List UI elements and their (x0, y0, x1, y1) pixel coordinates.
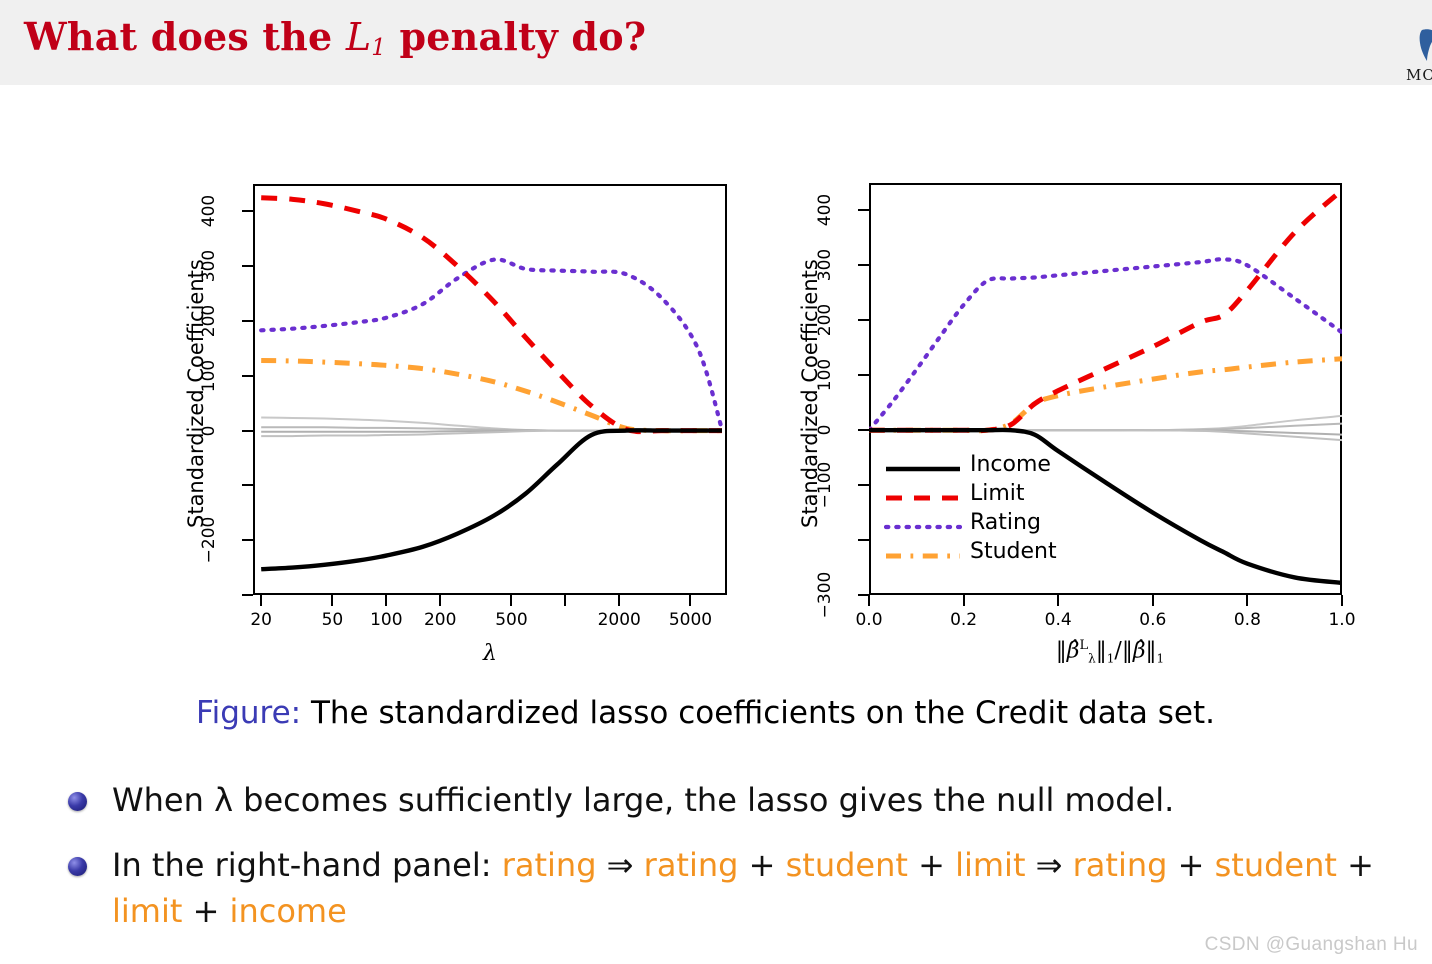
chart-panel-left: Standardized Coefficients −2000100200300… (0, 86, 760, 706)
series-line-rating (261, 259, 722, 429)
institution-logo-wordmark: MON (1406, 66, 1432, 84)
y-tick (858, 539, 869, 541)
x-tick (564, 595, 566, 606)
legend-label: Rating (970, 510, 1041, 535)
x-tick (1246, 595, 1248, 606)
legend-item-limit: Limit (884, 483, 1104, 511)
x-tick-label: 1.0 (1302, 610, 1382, 630)
page-title-calligraphic-L: L (346, 15, 371, 59)
bullet-text-segment: + (908, 846, 955, 884)
bullet-text: When λ becomes sufficiently large, the l… (112, 778, 1424, 823)
x-tick (618, 595, 620, 606)
y-tick (242, 210, 253, 212)
figure-caption: Figure: The standardized lasso coefficie… (196, 695, 1356, 731)
y-tick-label: 200 (198, 291, 220, 351)
institution-logo: MON (1372, 22, 1432, 84)
monash-shield-icon (1418, 28, 1432, 62)
figure-caption-lead: Figure: (196, 695, 301, 731)
highlighted-term: student (786, 846, 908, 884)
x-tick (1057, 595, 1059, 606)
page-title-subscript: 1 (371, 35, 386, 61)
x-tick-label: 200 (400, 610, 480, 630)
series-line-limit (869, 190, 1342, 430)
y-tick (242, 375, 253, 377)
bullet-text-segment: ⇒ (597, 846, 644, 884)
y-tick-label: 400 (198, 181, 220, 241)
bullet-text-segment: When λ becomes sufficiently large, the l… (112, 781, 1174, 819)
x-tick-label: 0.8 (1207, 610, 1287, 630)
legend-label: Limit (970, 481, 1025, 506)
y-tick (858, 374, 869, 376)
y-tick-label: 300 (814, 235, 836, 295)
highlighted-term: rating (1073, 846, 1168, 884)
y-tick (242, 430, 253, 432)
y-tick-label: 100 (198, 346, 220, 406)
legend-swatch-dashdot (884, 543, 962, 567)
y-tick (858, 484, 869, 486)
bullet-list: When λ becomes sufficiently large, the l… (64, 778, 1424, 954)
highlighted-term: limit (955, 846, 1025, 884)
figure-caption-text: The standardized lasso coefficients on t… (301, 695, 1215, 731)
x-tick-label: 0.0 (829, 610, 909, 630)
bullet-dot-icon (68, 857, 87, 876)
page-title-prefix: What does the (24, 14, 346, 59)
legend-item-student: Student (884, 541, 1104, 569)
x-tick (1341, 595, 1343, 606)
y-tick (858, 264, 869, 266)
x-tick (868, 595, 870, 606)
series-line-income (261, 430, 722, 569)
highlighted-term: rating (644, 846, 739, 884)
y-tick-label: 300 (198, 236, 220, 296)
y-tick (242, 320, 253, 322)
bullet-text-segment: In the right-hand panel: (112, 846, 502, 884)
y-tick (858, 209, 869, 211)
x-axis-label-left: λ (410, 641, 570, 666)
x-tick (331, 595, 333, 606)
x-tick-label: 20 (221, 610, 301, 630)
highlighted-term: income (230, 892, 347, 930)
watermark: CSDN @Guangshan Hu (1205, 934, 1418, 956)
legend-label: Income (970, 452, 1051, 477)
series-line-limit (261, 198, 722, 432)
x-tick-label: 0.6 (1113, 610, 1193, 630)
bullet-text-segment: ⇒ (1025, 846, 1072, 884)
series-line-student (261, 360, 722, 430)
figure-area: Standardized Coefficients −2000100200300… (0, 86, 1432, 706)
y-tick-label: 400 (814, 180, 836, 240)
x-tick (1152, 595, 1154, 606)
x-tick-label: 500 (471, 610, 551, 630)
y-tick (858, 429, 869, 431)
y-tick-label: −100 (814, 455, 836, 515)
x-tick-label: 0.4 (1018, 610, 1098, 630)
x-tick (963, 595, 965, 606)
y-tick-label: 0 (198, 401, 220, 461)
bullet-text: In the right-hand panel: rating ⇒ rating… (112, 843, 1424, 934)
highlighted-term: limit (112, 892, 182, 930)
y-tick (242, 594, 253, 596)
x-tick-label: 2000 (579, 610, 659, 630)
highlighted-term: student (1215, 846, 1337, 884)
x-tick (385, 595, 387, 606)
chart-legend: IncomeLimitRatingStudent (884, 454, 1114, 584)
x-tick (689, 595, 691, 606)
x-axis-label-right: ‖β̂Lλ‖1/‖β̂‖1 (1010, 638, 1210, 666)
legend-item-rating: Rating (884, 512, 1104, 540)
bullet-text-segment: + (182, 892, 229, 930)
chart-lines-left (253, 184, 727, 595)
bullet-text-segment: + (1167, 846, 1214, 884)
list-item: When λ becomes sufficiently large, the l… (64, 778, 1424, 823)
y-tick (242, 265, 253, 267)
legend-label: Student (970, 539, 1057, 564)
y-tick-label: 200 (814, 290, 836, 350)
x-tick-label: 5000 (650, 610, 730, 630)
x-tick-label: 0.2 (924, 610, 1004, 630)
y-tick (242, 484, 253, 486)
y-tick-label: 0 (814, 400, 836, 460)
legend-swatch-dotted (884, 514, 962, 538)
page-title: What does the L1 penalty do? (24, 14, 646, 61)
series-line-rating (869, 259, 1342, 430)
chart-panel-right: Standardized Coefficients −300−100010020… (760, 86, 1432, 706)
legend-item-income: Income (884, 454, 1104, 482)
x-tick (260, 595, 262, 606)
highlighted-term: rating (502, 846, 597, 884)
bullet-text-segment: + (1337, 846, 1374, 884)
legend-swatch-solid (884, 456, 962, 480)
x-tick (439, 595, 441, 606)
bullet-dot-icon (68, 792, 87, 811)
legend-swatch-dashed (884, 485, 962, 509)
bullet-text-segment: + (738, 846, 785, 884)
y-tick (858, 319, 869, 321)
y-tick (242, 539, 253, 541)
list-item: In the right-hand panel: rating ⇒ rating… (64, 843, 1424, 934)
y-tick-label: −200 (198, 510, 220, 570)
x-tick (510, 595, 512, 606)
page-title-suffix: penalty do? (386, 14, 646, 59)
y-tick-label: 100 (814, 345, 836, 405)
